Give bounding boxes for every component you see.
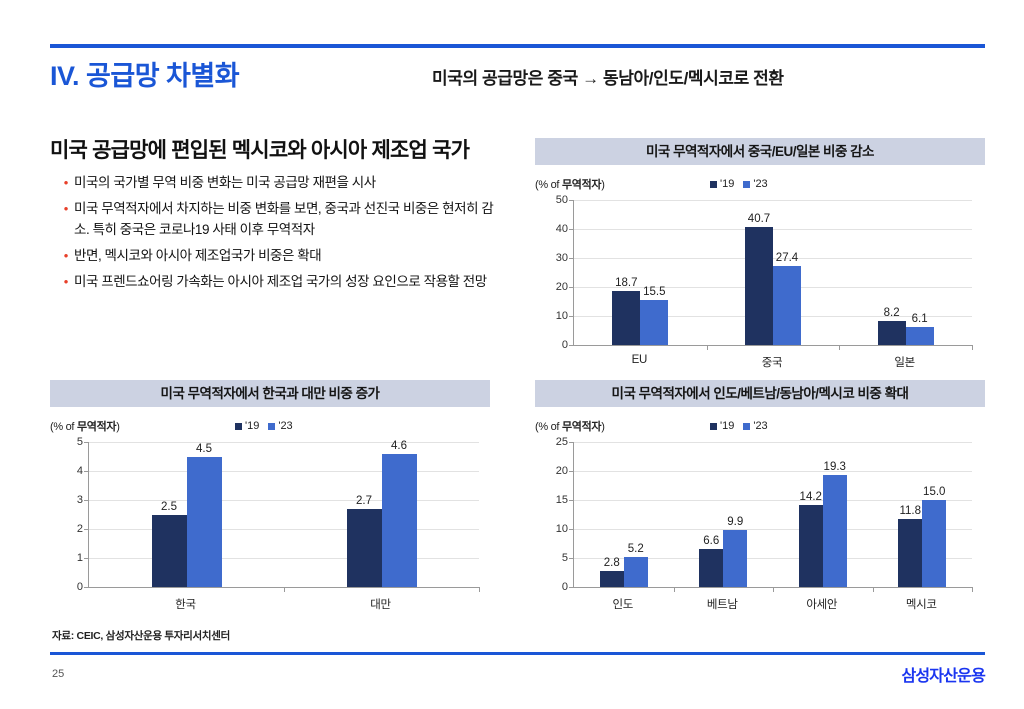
bar — [922, 500, 946, 587]
bullet-list: •미국의 국가별 무역 비중 변화는 미국 공급망 재편을 시사•미국 무역적자… — [58, 172, 498, 297]
bar — [745, 227, 773, 345]
category-separator — [674, 587, 675, 592]
y-tick-label: 5 — [77, 436, 83, 448]
bar — [347, 509, 382, 587]
category-separator — [873, 587, 874, 592]
header-rule — [50, 44, 985, 48]
bar — [898, 519, 922, 587]
gridline — [89, 558, 479, 559]
gridline — [89, 529, 479, 530]
bar-value-label: 14.2 — [800, 491, 822, 503]
x-category-label: 한국 — [175, 596, 196, 612]
legend-label: '19 — [720, 420, 734, 432]
axis-unit-label: (% of 무역적자) — [50, 418, 120, 434]
bar-value-label: 5.2 — [628, 543, 644, 555]
legend-item: '19 — [710, 420, 734, 432]
y-tick-label: 30 — [556, 252, 568, 264]
bar-value-label: 2.8 — [604, 557, 620, 569]
bar — [624, 557, 648, 587]
y-tick-mark — [569, 200, 574, 201]
y-tick-label: 15 — [556, 494, 568, 506]
bar — [640, 300, 668, 345]
category-separator — [773, 587, 774, 592]
legend-swatch-icon — [710, 423, 717, 430]
legend-item: '23 — [743, 178, 767, 190]
section-heading: 미국 공급망에 편입된 멕시코와 아시아 제조업 국가 — [50, 134, 469, 164]
plot-area: 0123452.54.52.74.6 — [88, 442, 479, 588]
bullet-item: •미국 프렌드쇼어링 가속화는 아시아 제조업 국가의 성장 요인으로 작용할 … — [58, 271, 498, 292]
y-tick-label: 50 — [556, 194, 568, 206]
bar — [799, 505, 823, 587]
bullet-item: •미국 무역적자에서 차지하는 비중 변화를 보면, 중국과 선진국 비중은 현… — [58, 198, 498, 240]
bullet-item: •미국의 국가별 무역 비중 변화는 미국 공급망 재편을 시사 — [58, 172, 498, 193]
brand-logo: 삼성자산운용 — [901, 662, 985, 686]
legend-label: '23 — [278, 420, 292, 432]
bar-value-label: 40.7 — [748, 213, 770, 225]
axis-end-tick — [972, 587, 973, 592]
legend-item: '23 — [743, 420, 767, 432]
chart-panel-china-eu-japan: 미국 무역적자에서 중국/EU/일본 비중 감소(% of 무역적자)'19'2… — [535, 138, 985, 363]
y-tick-mark — [84, 442, 89, 443]
bar-value-label: 11.8 — [899, 505, 921, 517]
y-tick-label: 25 — [556, 436, 568, 448]
y-tick-mark — [569, 316, 574, 317]
y-tick-label: 4 — [77, 465, 83, 477]
gridline — [89, 471, 479, 472]
y-tick-mark — [569, 500, 574, 501]
y-tick-label: 1 — [77, 552, 83, 564]
bullet-text: 미국 무역적자에서 차지하는 비중 변화를 보면, 중국과 선진국 비중은 현저… — [74, 198, 498, 240]
y-tick-mark — [84, 558, 89, 559]
x-category-label: EU — [632, 354, 647, 366]
y-tick-mark — [569, 287, 574, 288]
category-separator — [707, 345, 708, 350]
legend-item: '19 — [710, 178, 734, 190]
y-tick-mark — [569, 345, 574, 346]
gridline — [574, 200, 972, 201]
bar — [600, 571, 624, 587]
bar — [382, 454, 417, 587]
page-title: IV. 공급망 차별화 — [50, 54, 239, 93]
category-separator — [839, 345, 840, 350]
bar-value-label: 2.7 — [356, 495, 372, 507]
legend-swatch-icon — [710, 181, 717, 188]
chart-legend: '19'23 — [710, 178, 768, 190]
bar-value-label: 15.5 — [643, 286, 665, 298]
legend-label: '19 — [720, 178, 734, 190]
bullet-dot-icon: • — [58, 271, 74, 292]
bar-value-label: 6.1 — [912, 313, 928, 325]
bar — [906, 327, 934, 345]
bar-value-label: 2.5 — [161, 501, 177, 513]
y-tick-mark — [569, 587, 574, 588]
y-tick-label: 20 — [556, 465, 568, 477]
gridline — [574, 471, 972, 472]
chart-title: 미국 무역적자에서 한국과 대만 비중 증가 — [50, 380, 490, 407]
chart-panel-india-vietnam-asean-mexico: 미국 무역적자에서 인도/베트남/동남아/멕시코 비중 확대(% of 무역적자… — [535, 380, 985, 610]
y-tick-mark — [84, 529, 89, 530]
y-tick-label: 40 — [556, 223, 568, 235]
bar-value-label: 18.7 — [615, 277, 637, 289]
bar — [152, 515, 187, 588]
axis-end-tick — [972, 345, 973, 350]
y-tick-label: 10 — [556, 523, 568, 535]
y-tick-label: 3 — [77, 494, 83, 506]
gridline — [574, 258, 972, 259]
bullet-text: 미국의 국가별 무역 비중 변화는 미국 공급망 재편을 시사 — [74, 172, 498, 193]
y-tick-label: 10 — [556, 310, 568, 322]
footer-rule — [50, 652, 985, 655]
axis-unit-label: (% of 무역적자) — [535, 176, 605, 192]
page-subtitle: 미국의 공급망은 중국 → 동남아/인도/멕시코로 전환 — [432, 64, 784, 89]
legend-swatch-icon — [268, 423, 275, 430]
chart-title: 미국 무역적자에서 중국/EU/일본 비중 감소 — [535, 138, 985, 165]
page-number: 25 — [52, 668, 64, 680]
bar — [612, 291, 640, 345]
chart-panel-korea-taiwan: 미국 무역적자에서 한국과 대만 비중 증가(% of 무역적자)'19'230… — [50, 380, 490, 610]
bar-value-label: 19.3 — [824, 461, 846, 473]
bar-value-label: 4.5 — [196, 443, 212, 455]
axis-unit-label: (% of 무역적자) — [535, 418, 605, 434]
plot-area: 05101520252.85.26.69.914.219.311.815.0 — [573, 442, 972, 588]
legend-swatch-icon — [743, 423, 750, 430]
gridline — [574, 442, 972, 443]
bar — [878, 321, 906, 345]
y-tick-mark — [84, 500, 89, 501]
bar-value-label: 8.2 — [884, 307, 900, 319]
bullet-text: 미국 프렌드쇼어링 가속화는 아시아 제조업 국가의 성장 요인으로 작용할 전… — [74, 271, 498, 292]
legend-label: '23 — [753, 420, 767, 432]
y-tick-mark — [569, 471, 574, 472]
legend-label: '19 — [245, 420, 259, 432]
y-tick-mark — [569, 442, 574, 443]
legend-label: '23 — [753, 178, 767, 190]
x-category-label: 중국 — [762, 354, 783, 370]
slide-canvas: IV. 공급망 차별화 미국의 공급망은 중국 → 동남아/인도/멕시코로 전환… — [0, 0, 1024, 709]
bar — [187, 457, 222, 588]
bullet-dot-icon: • — [58, 172, 74, 193]
x-category-label: 베트남 — [707, 596, 738, 612]
gridline — [89, 500, 479, 501]
legend-item: '19 — [235, 420, 259, 432]
y-tick-mark — [569, 558, 574, 559]
x-category-label: 대만 — [370, 596, 391, 612]
bar-value-label: 9.9 — [727, 516, 743, 528]
y-tick-mark — [569, 258, 574, 259]
y-tick-label: 20 — [556, 281, 568, 293]
legend-swatch-icon — [235, 423, 242, 430]
bar — [723, 530, 747, 587]
y-tick-label: 0 — [562, 339, 568, 351]
bar — [699, 549, 723, 587]
y-tick-mark — [569, 229, 574, 230]
x-category-label: 인도 — [612, 596, 633, 612]
legend-swatch-icon — [743, 181, 750, 188]
bullet-dot-icon: • — [58, 198, 74, 219]
source-note: 자료: CEIC, 삼성자산운용 투자리서치센터 — [52, 628, 230, 643]
bullet-dot-icon: • — [58, 245, 74, 266]
plot-area: 0102030405018.715.540.727.48.26.1 — [573, 200, 972, 346]
chart-legend: '19'23 — [235, 420, 293, 432]
y-tick-mark — [84, 587, 89, 588]
bar-value-label: 27.4 — [776, 252, 798, 264]
category-separator — [284, 587, 285, 592]
gridline — [574, 500, 972, 501]
bar-value-label: 4.6 — [391, 440, 407, 452]
bullet-text: 반면, 멕시코와 아시아 제조업국가 비중은 확대 — [74, 245, 498, 266]
x-category-label: 일본 — [894, 354, 915, 370]
y-tick-label: 0 — [562, 581, 568, 593]
y-tick-mark — [84, 471, 89, 472]
gridline — [89, 442, 479, 443]
gridline — [574, 229, 972, 230]
bar — [823, 475, 847, 587]
x-category-label: 멕시코 — [906, 596, 937, 612]
bar — [773, 266, 801, 345]
axis-end-tick — [479, 587, 480, 592]
y-tick-label: 5 — [562, 552, 568, 564]
bar-value-label: 15.0 — [923, 486, 945, 498]
x-category-label: 아세안 — [806, 596, 837, 612]
legend-item: '23 — [268, 420, 292, 432]
y-tick-mark — [569, 529, 574, 530]
bullet-item: •반면, 멕시코와 아시아 제조업국가 비중은 확대 — [58, 245, 498, 266]
chart-legend: '19'23 — [710, 420, 768, 432]
bar-value-label: 6.6 — [703, 535, 719, 547]
chart-title: 미국 무역적자에서 인도/베트남/동남아/멕시코 비중 확대 — [535, 380, 985, 407]
y-tick-label: 2 — [77, 523, 83, 535]
y-tick-label: 0 — [77, 581, 83, 593]
